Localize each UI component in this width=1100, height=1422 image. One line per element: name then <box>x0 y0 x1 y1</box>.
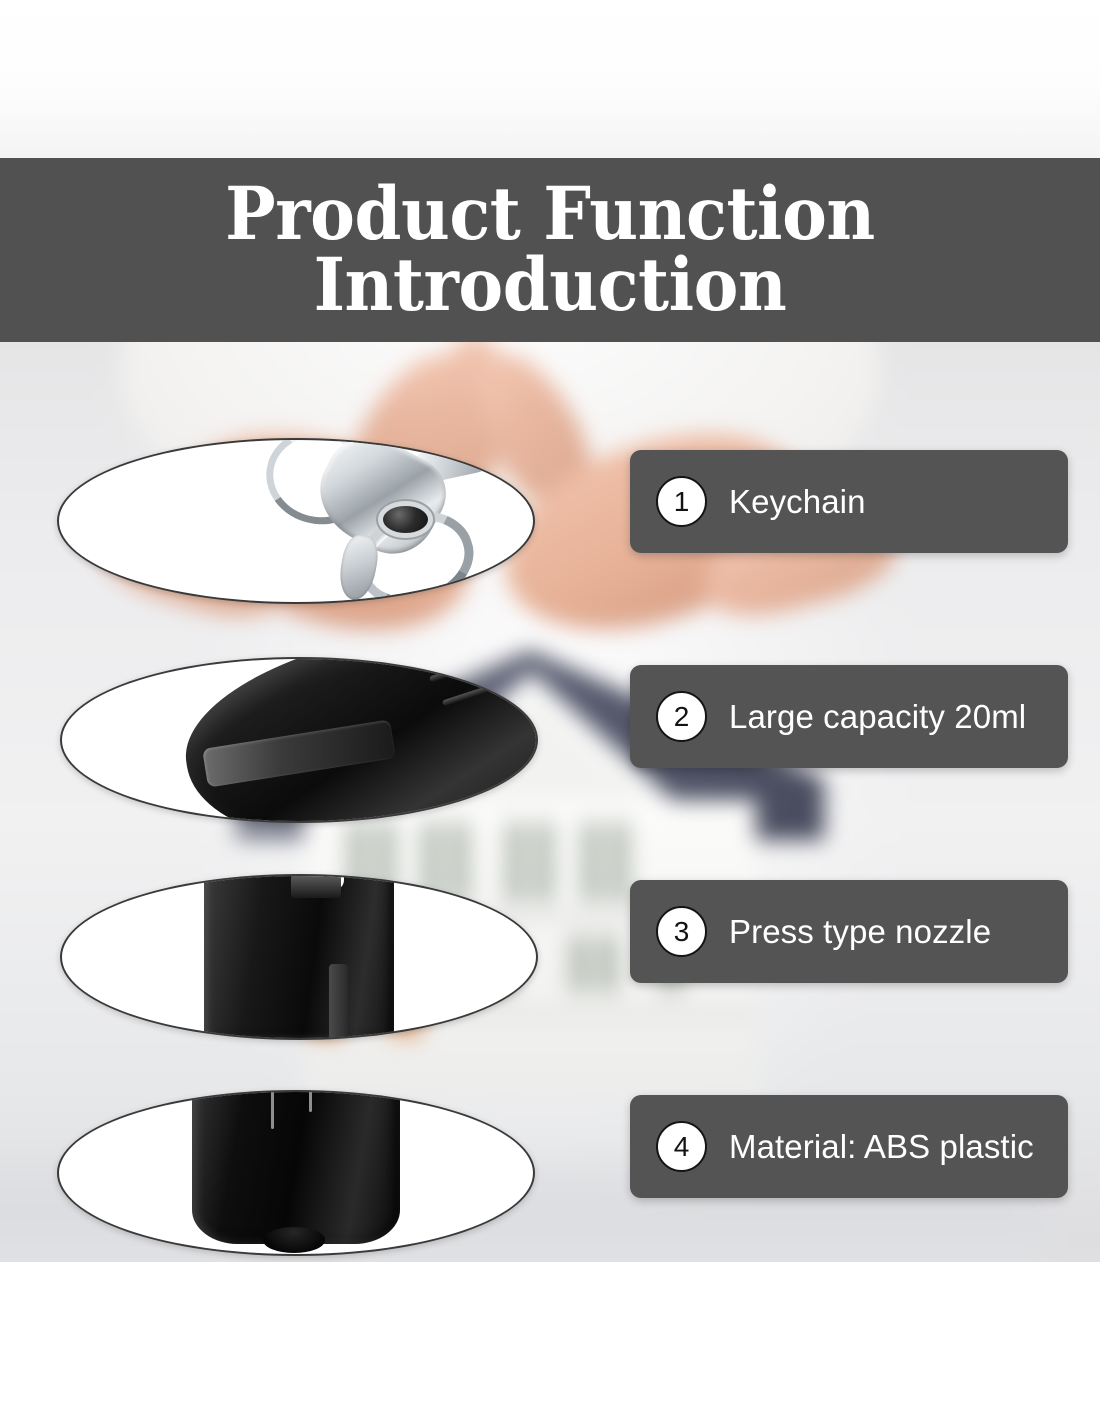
house-window <box>598 936 617 992</box>
body-groove <box>442 677 518 707</box>
feature-number-badge-2: 2 <box>656 691 707 742</box>
press-nozzle-illustration <box>204 874 394 1038</box>
bottom-white-strip <box>0 1262 1100 1422</box>
house-window <box>570 936 589 992</box>
house-window <box>534 822 553 902</box>
lobster-clasp-illustration <box>277 438 535 604</box>
feature-label-4[interactable]: 4 Material: ABS plastic <box>630 1095 1068 1198</box>
feature-number-badge-1: 1 <box>656 476 707 527</box>
product-infographic: Product Function Introduction <box>0 0 1100 1422</box>
callout-oval-capacity-image <box>62 659 536 821</box>
feature-number-badge-4: 4 <box>656 1121 707 1172</box>
callout-oval-keychain-image <box>59 440 533 602</box>
cap-slit <box>271 1090 274 1129</box>
callout-oval-keychain <box>57 438 535 604</box>
cap-foot <box>263 1227 326 1253</box>
top-white-strip <box>0 0 1100 158</box>
feature-label-2[interactable]: 2 Large capacity 20ml <box>630 665 1068 768</box>
feature-number-badge-3: 3 <box>656 906 707 957</box>
feature-label-text-3: Press type nozzle <box>729 913 991 951</box>
page-title: Product Function Introduction <box>44 179 1056 321</box>
feature-label-text-4: Material: ABS plastic <box>729 1128 1034 1166</box>
callout-oval-material <box>57 1090 535 1256</box>
feature-label-text-2: Large capacity 20ml <box>729 698 1026 736</box>
header-band: Product Function Introduction <box>0 158 1100 342</box>
nozzle-lip <box>291 875 340 898</box>
callout-oval-nozzle <box>60 874 538 1040</box>
cap-slit <box>309 1090 312 1112</box>
callout-oval-capacity <box>60 657 538 823</box>
abs-cap-illustration <box>192 1090 401 1244</box>
nozzle-stem <box>329 964 348 1040</box>
callout-oval-nozzle-image <box>62 876 536 1038</box>
feature-label-1[interactable]: 1 Keychain <box>630 450 1068 553</box>
feature-label-3[interactable]: 3 Press type nozzle <box>630 880 1068 983</box>
callout-oval-material-image <box>59 1092 533 1254</box>
house-window <box>582 822 601 902</box>
photo-stage: 1 Keychain 2 Large capacity 20ml 3 Press… <box>0 342 1100 1262</box>
house-window <box>610 822 629 902</box>
feature-label-text-1: Keychain <box>729 483 866 521</box>
